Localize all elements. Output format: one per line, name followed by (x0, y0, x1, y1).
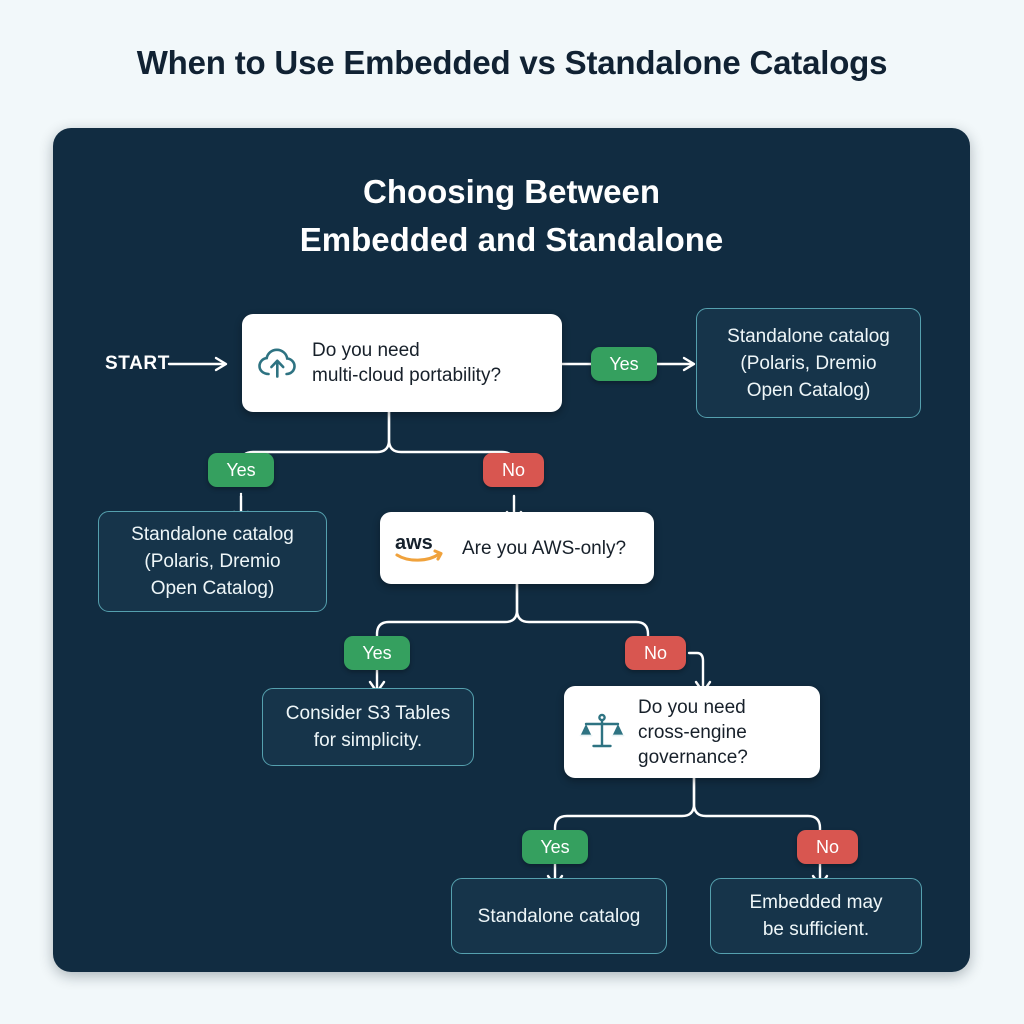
connector-q2-yes (377, 584, 517, 640)
outcome-standalone-catalog-bottom: Standalone catalog (451, 878, 667, 954)
decision-node-multicloud-line1: Do you need (312, 338, 501, 363)
outcome-standalone-left-line3: Open Catalog) (99, 575, 326, 602)
outcome-s3-tables-line2: for simplicity. (263, 727, 473, 754)
outcome-consider-s3-tables: Consider S3 Tables for simplicity. (262, 688, 474, 766)
decision-node-aws-only[interactable]: aws Are you AWS-only? (380, 512, 654, 584)
connector-q3-no (694, 778, 820, 834)
outcome-embedded-line2: be sufficient. (711, 916, 921, 943)
svg-text:aws: aws (395, 532, 433, 554)
outcome-standalone-catalog-right: Standalone catalog (Polaris, Dremio Open… (696, 308, 921, 418)
badge-q1-no[interactable]: No (483, 453, 544, 487)
decision-node-governance-line3: governance? (638, 745, 748, 770)
outcome-standalone-left-line1: Standalone catalog (99, 521, 326, 548)
badge-q1-yes[interactable]: Yes (208, 453, 274, 487)
decision-node-governance-label: Do you need cross-engine governance? (638, 695, 748, 770)
decision-node-governance-line2: cross-engine (638, 720, 748, 745)
outcome-standalone-catalog-left: Standalone catalog (Polaris, Dremio Open… (98, 511, 327, 612)
outcome-embedded-label: Embedded may be sufficient. (711, 889, 921, 943)
outcome-embedded-sufficient: Embedded may be sufficient. (710, 878, 922, 954)
decision-node-multicloud-label: Do you need multi-cloud portability? (312, 338, 501, 388)
flowchart-card: Choosing Between Embedded and Standalone (53, 128, 970, 972)
outcome-standalone-right-line2: (Polaris, Dremio (697, 350, 920, 377)
outcome-standalone-bottom-label: Standalone catalog (452, 903, 666, 930)
decision-node-multicloud-line2: multi-cloud portability? (312, 363, 501, 388)
badge-q2-yes[interactable]: Yes (344, 636, 410, 670)
decision-node-aws-only-line1: Are you AWS-only? (462, 536, 626, 561)
connector-q2-no (517, 584, 648, 640)
outcome-standalone-left-line2: (Polaris, Dremio (99, 548, 326, 575)
outcome-standalone-right-label: Standalone catalog (Polaris, Dremio Open… (697, 323, 920, 404)
cloud-upload-icon (256, 341, 300, 385)
badge-q2-no[interactable]: No (625, 636, 686, 670)
badge-q3-yes[interactable]: Yes (522, 830, 588, 864)
outcome-standalone-right-line1: Standalone catalog (697, 323, 920, 350)
outcome-standalone-bottom-line1: Standalone catalog (452, 903, 666, 930)
outcome-standalone-left-label: Standalone catalog (Polaris, Dremio Open… (99, 521, 326, 602)
scales-icon (578, 708, 626, 756)
badge-q1-yes-right[interactable]: Yes (591, 347, 657, 381)
aws-logo-icon: aws (394, 530, 450, 566)
page-title: When to Use Embedded vs Standalone Catal… (0, 44, 1024, 82)
diagram-page: When to Use Embedded vs Standalone Catal… (0, 0, 1024, 1024)
outcome-embedded-line1: Embedded may (711, 889, 921, 916)
outcome-standalone-right-line3: Open Catalog) (697, 377, 920, 404)
decision-node-aws-only-label: Are you AWS-only? (462, 536, 626, 561)
outcome-s3-tables-line1: Consider S3 Tables (263, 700, 473, 727)
outcome-s3-tables-label: Consider S3 Tables for simplicity. (263, 700, 473, 754)
decision-node-multicloud-portability[interactable]: Do you need multi-cloud portability? (242, 314, 562, 412)
connector-q3-yes (555, 778, 694, 834)
start-label: START (105, 353, 170, 375)
decision-node-cross-engine-governance[interactable]: Do you need cross-engine governance? (564, 686, 820, 778)
decision-node-governance-line1: Do you need (638, 695, 748, 720)
badge-q3-no[interactable]: No (797, 830, 858, 864)
